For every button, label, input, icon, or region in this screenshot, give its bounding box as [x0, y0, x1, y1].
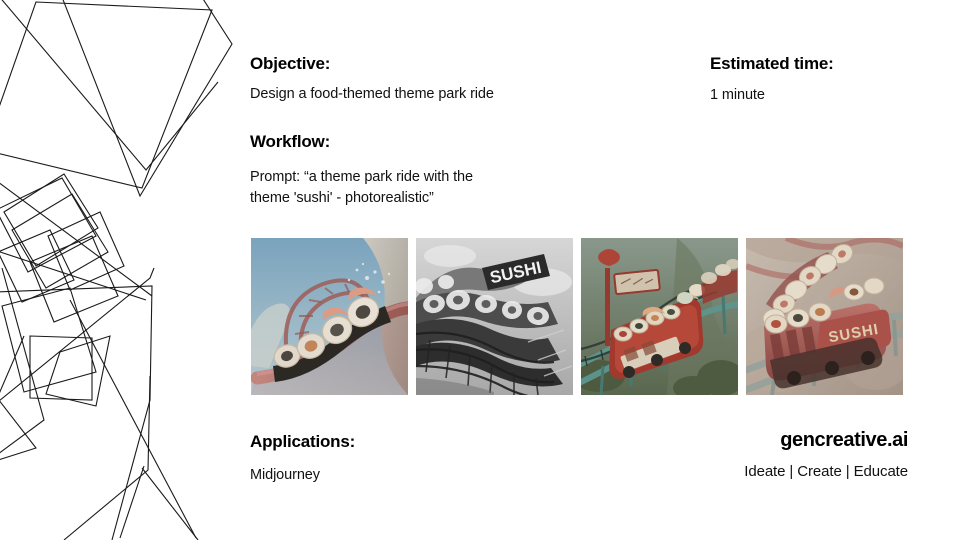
decor-line-9 — [120, 466, 144, 538]
decor-rect-5 — [12, 194, 108, 288]
decor-line-7 — [64, 376, 150, 540]
decor-rect-6 — [48, 212, 124, 290]
decor-rect-8 — [0, 230, 74, 302]
decor-rect-3 — [4, 174, 98, 266]
workflow-heading: Workflow: — [250, 132, 530, 152]
decor-line-6 — [0, 286, 152, 540]
workflow-prompt-line-1: Prompt: “a theme park ride with the — [250, 167, 530, 188]
decor-rect-11 — [2, 288, 96, 392]
decor-rect-7 — [30, 236, 118, 322]
workflow-block: Workflow: Prompt: “a theme park ride wit… — [250, 132, 530, 209]
objective-block: Objective: Design a food-themed theme pa… — [250, 54, 494, 105]
workflow-prompt-line-2: theme 'sushi' - photorealistic” — [250, 188, 530, 209]
image-gallery: SUSHI — [251, 238, 909, 395]
brand-block: gencreative.ai Ideate | Create | Educate — [650, 428, 908, 482]
decor-line-1 — [0, 0, 218, 170]
decor-line-11 — [0, 336, 24, 424]
decor-rect-10 — [46, 336, 110, 406]
decor-rect-4 — [0, 178, 96, 272]
objective-heading: Objective: — [250, 54, 494, 74]
decorative-line-art — [0, 0, 250, 540]
estimated-time-text: 1 minute — [710, 85, 834, 106]
decor-line-8 — [142, 468, 198, 540]
objective-text: Design a food-themed theme park ride — [250, 84, 494, 105]
slide-root: Objective: Design a food-themed theme pa… — [0, 0, 960, 540]
decor-line-2 — [0, 176, 152, 296]
sushi-lettered-coaster-car-illustration: SUSHI — [746, 238, 903, 395]
estimated-time-heading: Estimated time: — [710, 54, 834, 74]
decor-rect-2 — [60, 0, 232, 196]
gallery-image-1[interactable] — [251, 238, 408, 395]
applications-text: Midjourney — [250, 465, 355, 486]
brand-tagline: Ideate | Create | Educate — [650, 462, 908, 482]
decor-line-4 — [0, 268, 154, 410]
miniature-sushi-train-illustration — [581, 238, 738, 395]
workflow-prompt: Prompt: “a theme park ride with the them… — [250, 167, 530, 209]
applications-heading: Applications: — [250, 432, 355, 452]
decor-line-10 — [0, 386, 36, 462]
decor-rect-1 — [0, 2, 212, 188]
gallery-image-2[interactable]: SUSHI — [416, 238, 573, 395]
decor-line-5 — [0, 268, 44, 460]
decor-rect-9 — [30, 336, 92, 400]
gallery-image-3[interactable] — [581, 238, 738, 395]
decor-line-3 — [0, 248, 146, 300]
gallery-image-4[interactable]: SUSHI — [746, 238, 903, 395]
brand-name: gencreative.ai — [650, 428, 908, 452]
bw-sushi-sign-coaster-illustration: SUSHI — [416, 238, 573, 395]
sushi-coaster-sky-illustration — [251, 238, 408, 395]
applications-block: Applications: Midjourney — [250, 432, 355, 486]
decor-line-12 — [70, 300, 196, 538]
estimated-time-block: Estimated time: 1 minute — [710, 54, 834, 106]
content-column: Objective: Design a food-themed theme pa… — [250, 0, 960, 540]
